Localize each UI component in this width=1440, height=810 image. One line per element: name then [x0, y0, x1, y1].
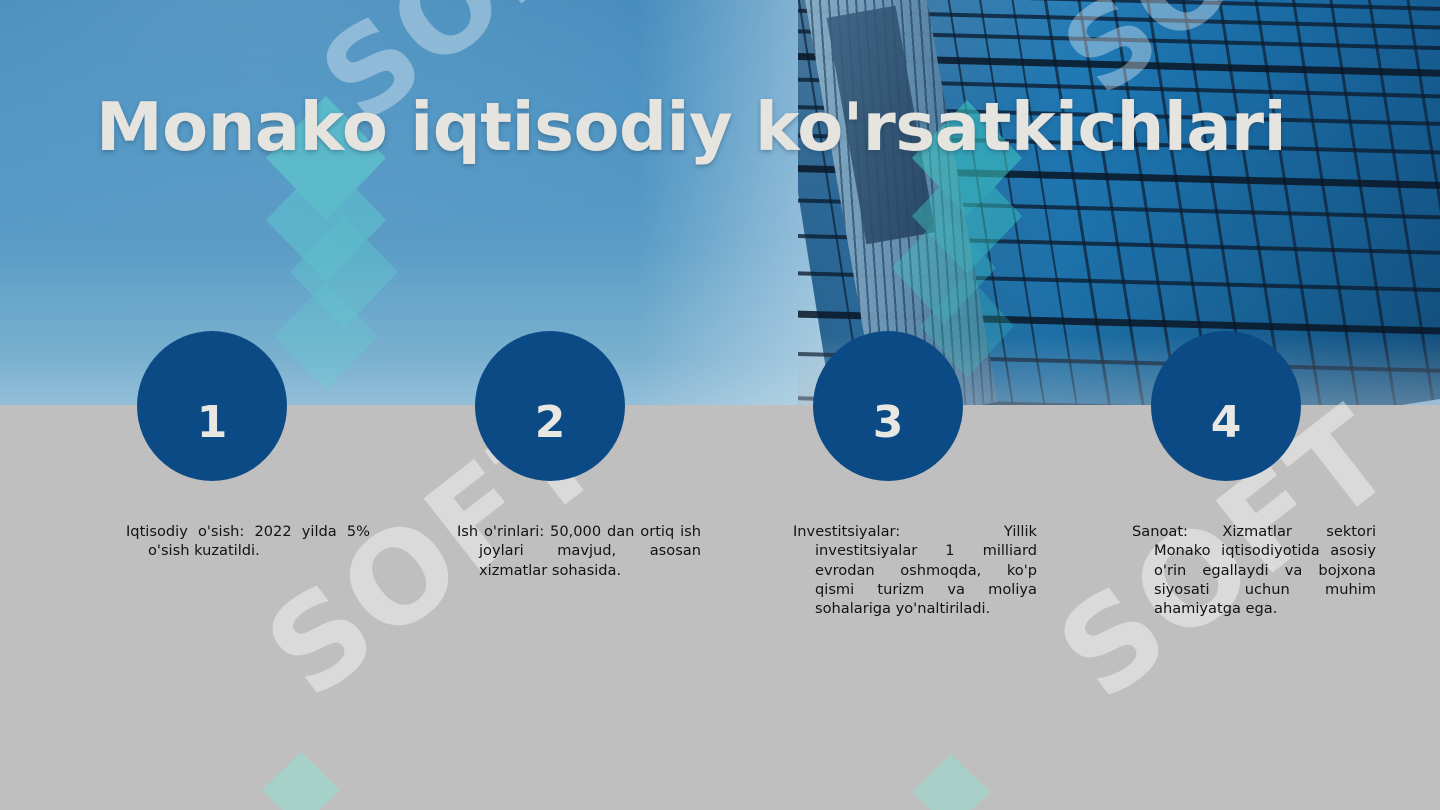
- step-circle-4[interactable]: 4: [1151, 331, 1301, 481]
- page-title: Monako iqtisodiy ko'rsatkichlari: [96, 92, 1386, 162]
- step-number: 2: [535, 401, 566, 481]
- step-number: 4: [1211, 401, 1242, 481]
- brand-logo-watermark: [886, 748, 1016, 810]
- presentation-slide: SOFT SOFT Monako iqtisodiy ko'rsatkichla…: [0, 0, 1440, 810]
- step-text-4: Sanoat: Xizmatlar sektori Monako iqtisod…: [1132, 522, 1376, 618]
- step-number: 3: [873, 401, 904, 481]
- step-circle-2[interactable]: 2: [475, 331, 625, 481]
- brand-logo-watermark: [236, 746, 366, 810]
- step-circle-1[interactable]: 1: [137, 331, 287, 481]
- step-text-3: Investitsiyalar: Yillik investitsiyalar …: [793, 522, 1037, 618]
- step-text-2: Ish o'rinlari: 50,000 dan ortiq ish joyl…: [457, 522, 701, 580]
- step-text-1: Iqtisodiy o'sish: 2022 yilda 5% o'sish k…: [126, 522, 370, 561]
- step-circle-3[interactable]: 3: [813, 331, 963, 481]
- step-number: 1: [197, 401, 228, 481]
